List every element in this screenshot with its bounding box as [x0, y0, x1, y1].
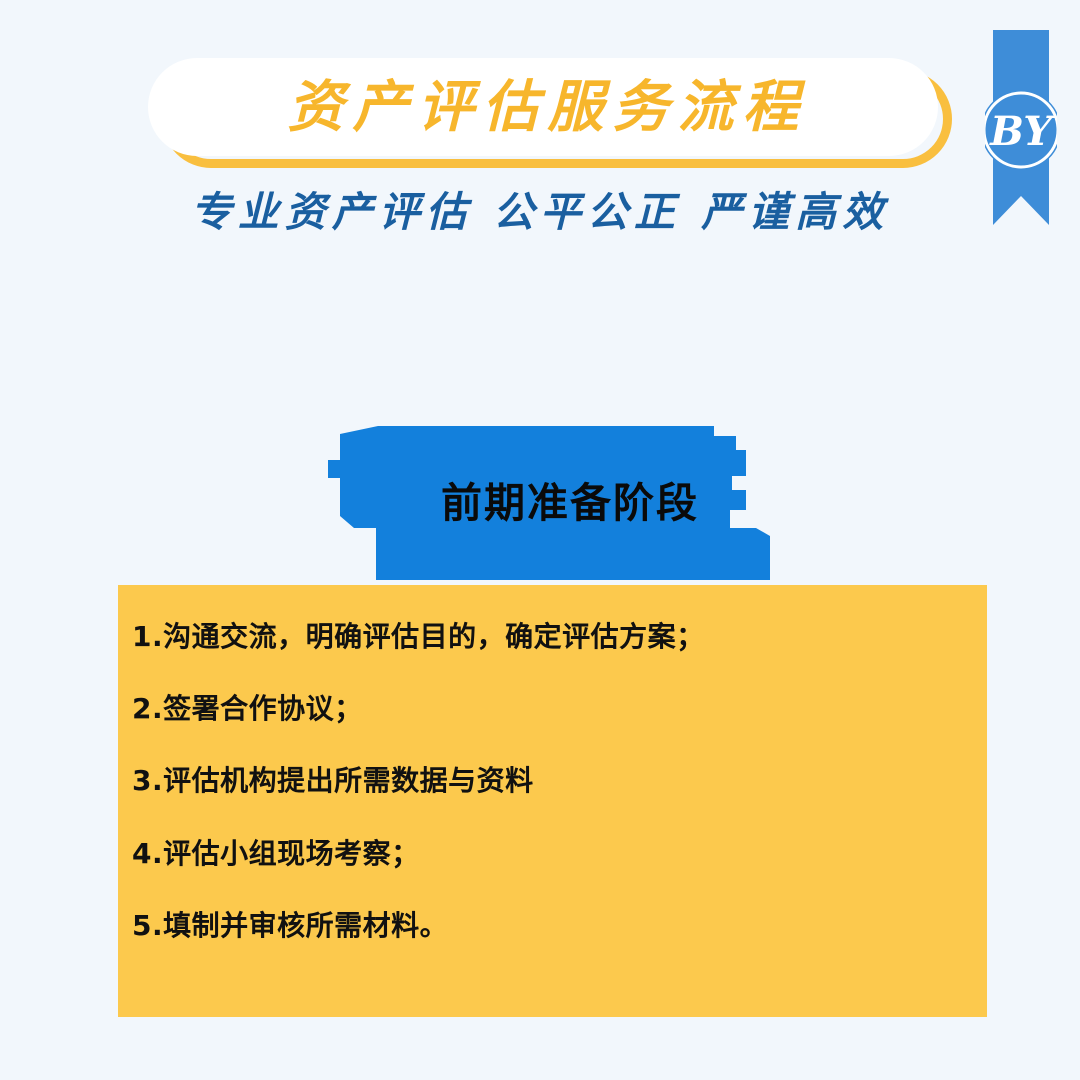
- title-banner: 资产评估服务流程: [148, 58, 956, 170]
- poster-root: 资产评估服务流程 专业资产评估 公平公正 严谨高效 BY 前期准备阶段 1.沟通…: [0, 0, 1080, 1080]
- list-item: 5.填制并审核所需材料。: [132, 910, 957, 942]
- list-item: 2.签署合作协议；: [132, 693, 957, 725]
- stage-banner: 前期准备阶段: [318, 424, 788, 590]
- stage-banner-label: 前期准备阶段: [318, 424, 788, 574]
- list-item: 1.沟通交流，明确评估目的，确定评估方案；: [132, 621, 957, 653]
- ribbon-badge-icon: BY: [985, 30, 1057, 240]
- ribbon-shape-icon: BY: [985, 30, 1057, 240]
- title-pill: 资产评估服务流程: [148, 58, 938, 156]
- content-card: 1.沟通交流，明确评估目的，确定评估方案； 2.签署合作协议； 3.评估机构提出…: [118, 585, 987, 1017]
- process-step-list: 1.沟通交流，明确评估目的，确定评估方案； 2.签署合作协议； 3.评估机构提出…: [132, 621, 957, 942]
- page-title: 资产评估服务流程: [279, 79, 808, 135]
- list-item: 4.评估小组现场考察；: [132, 838, 957, 870]
- badge-monogram: BY: [989, 108, 1055, 155]
- page-subtitle: 专业资产评估 公平公正 严谨高效: [0, 188, 1080, 237]
- list-item: 3.评估机构提出所需数据与资料: [132, 765, 957, 797]
